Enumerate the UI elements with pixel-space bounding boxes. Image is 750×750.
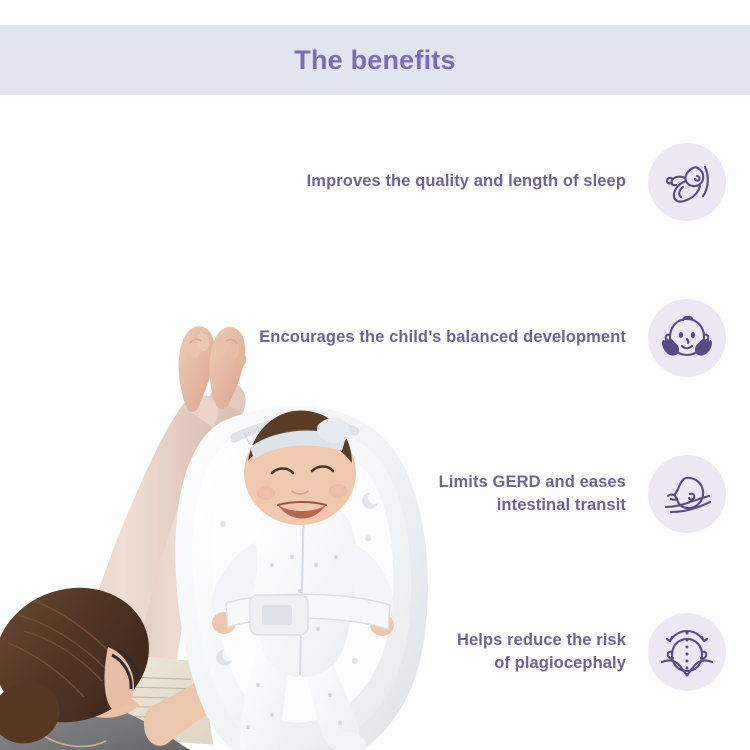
benefit-label: Limits GERD and eases intestinal transit	[439, 471, 626, 518]
baby-face-hands-icon	[661, 312, 713, 364]
benefit-item-development: Encourages the child’s balanced developm…	[259, 299, 726, 377]
benefit-icon-badge	[648, 455, 726, 533]
baby-head-inclined-icon	[661, 468, 713, 520]
head-rotation-symmetry-icon	[661, 626, 713, 678]
benefit-label: Encourages the child’s balanced developm…	[259, 326, 626, 349]
benefit-icon-badge	[648, 613, 726, 691]
benefit-icon-badge	[648, 299, 726, 377]
sleeping-fetus-icon	[661, 156, 713, 208]
benefit-label: Helps reduce the risk of plagiocephaly	[457, 629, 626, 676]
page-title: The benefits	[294, 47, 455, 74]
benefit-item-plagiocephaly: Helps reduce the risk of plagiocephaly	[457, 613, 726, 691]
benefits-list: Improves the quality and length of sleep	[0, 95, 750, 750]
infographic-page: The benefits	[0, 0, 750, 750]
benefit-label: Improves the quality and length of sleep	[307, 170, 626, 193]
benefit-item-gerd: Limits GERD and eases intestinal transit	[439, 455, 726, 533]
benefit-icon-badge	[648, 143, 726, 221]
benefit-item-sleep: Improves the quality and length of sleep	[307, 143, 726, 221]
header-band: The benefits	[0, 25, 750, 95]
